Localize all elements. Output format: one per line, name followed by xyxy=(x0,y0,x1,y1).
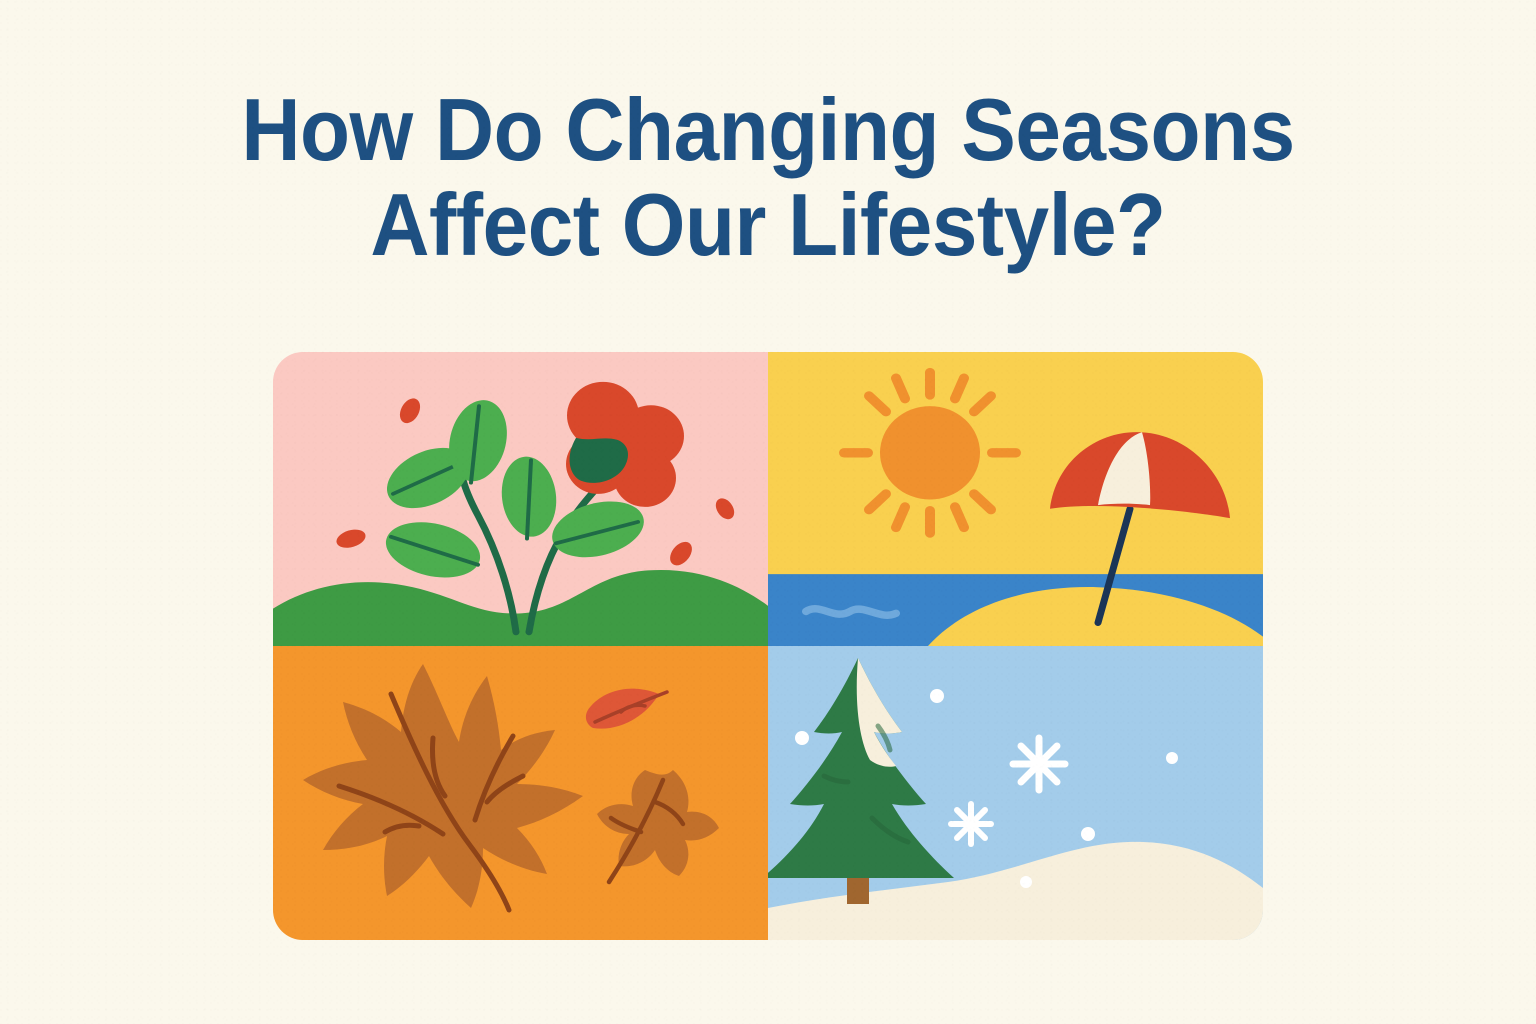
sun-ray xyxy=(955,378,964,399)
green-hill xyxy=(273,570,768,646)
snow-dot xyxy=(1020,876,1032,888)
snowflake xyxy=(1013,738,1065,790)
small-red-leaf xyxy=(586,689,667,729)
snow-dot xyxy=(1166,752,1178,764)
maple-leaf xyxy=(303,664,583,910)
sun-ray xyxy=(869,494,886,510)
snow-dot xyxy=(795,731,809,745)
falling-petal xyxy=(712,495,738,522)
winter-scene xyxy=(768,646,1263,940)
summer-scene xyxy=(768,352,1263,646)
season-panel-autumn xyxy=(273,646,768,940)
spring-scene xyxy=(273,352,768,646)
season-panel-winter xyxy=(768,646,1263,940)
snow-dot xyxy=(1081,827,1095,841)
season-panel-summer xyxy=(768,352,1263,646)
autumn-scene xyxy=(273,646,768,940)
oak-leaf xyxy=(597,770,719,882)
snow-dot xyxy=(930,689,944,703)
pine-tree xyxy=(768,658,954,904)
sun-ray xyxy=(896,507,905,528)
season-panel-spring xyxy=(273,352,768,646)
falling-petal xyxy=(396,395,424,426)
page-title: How Do Changing Seasons Affect Our Lifes… xyxy=(54,82,1482,272)
sun-ray xyxy=(974,494,991,510)
sun-ray xyxy=(974,396,991,412)
falling-petal xyxy=(666,538,697,569)
sun-ray xyxy=(896,378,905,399)
sun-ray xyxy=(869,396,886,412)
snowflake xyxy=(951,804,991,844)
sun-ray xyxy=(955,507,964,528)
four-seasons-illustration xyxy=(273,352,1263,940)
sun-disc xyxy=(880,406,980,499)
flower xyxy=(566,382,684,507)
falling-petal xyxy=(334,526,368,551)
